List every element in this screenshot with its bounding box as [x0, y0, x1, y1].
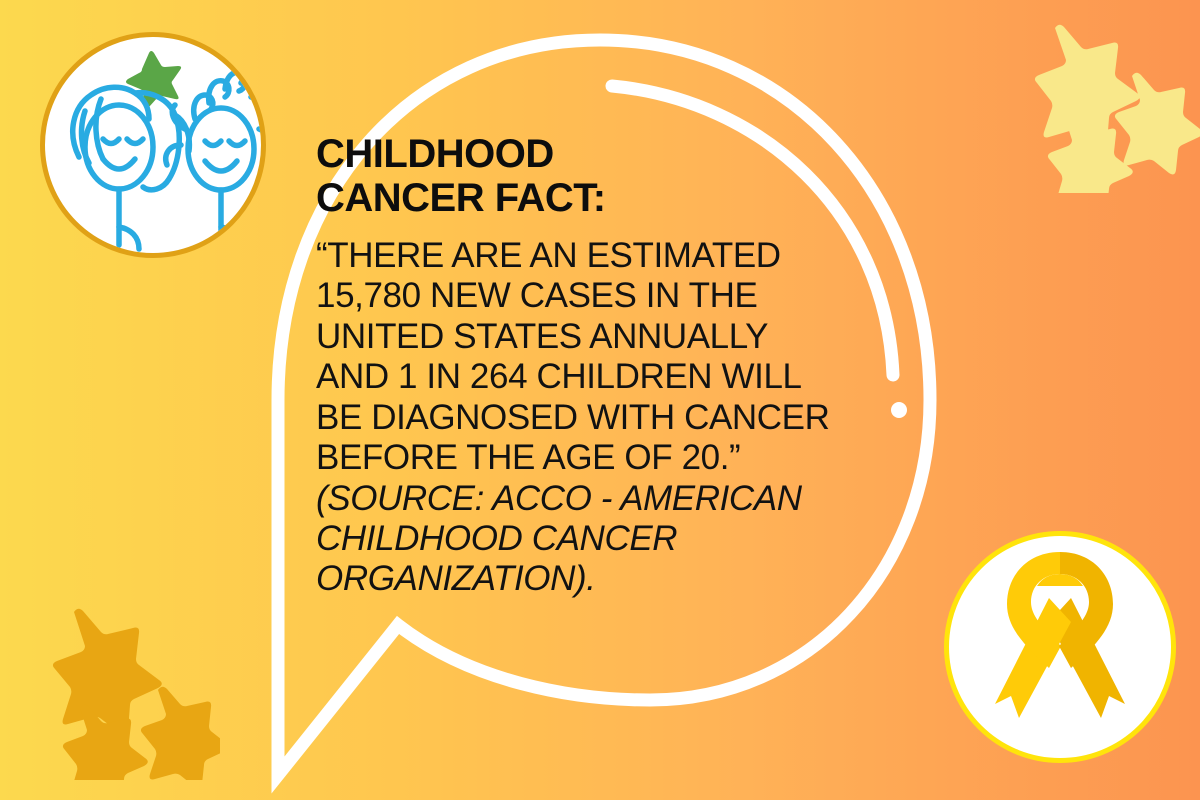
fact-text-block: CHILDHOOD CANCER FACT: “THERE ARE AN EST… — [316, 132, 896, 600]
child-left-face — [85, 105, 153, 189]
fact-quote: “THERE ARE AN ESTIMATED 15,780 NEW CASES… — [316, 236, 896, 479]
star-icon — [1035, 25, 1140, 148]
star-icon — [141, 687, 220, 780]
child-left-closed-eyes — [103, 139, 143, 144]
child-right-closed-eyes — [205, 141, 245, 146]
awareness-ribbon-badge — [944, 531, 1176, 763]
child-right-arm — [221, 227, 241, 249]
star-cluster-bottom-left — [20, 600, 220, 780]
page-title: CHILDHOOD CANCER FACT: — [316, 132, 896, 220]
star-icon — [53, 609, 162, 736]
child-left-arm — [119, 227, 139, 249]
child-right-face — [188, 108, 254, 190]
child-left-smile — [103, 159, 135, 169]
star-cluster-top-right — [1010, 18, 1200, 193]
child-right-smile — [205, 161, 237, 171]
fact-source: (SOURCE: ACCO - AMERICAN CHILDHOOD CANCE… — [316, 479, 896, 600]
star-icon — [126, 51, 181, 109]
childhood-cancer-fact-poster: CHILDHOOD CANCER FACT: “THERE ARE AN EST… — [0, 0, 1200, 800]
children-illustration-badge — [40, 32, 266, 258]
